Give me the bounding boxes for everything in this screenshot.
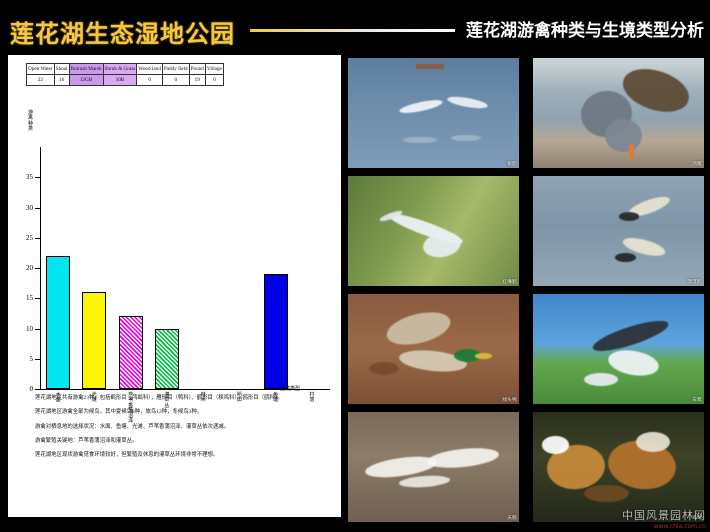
- note-paragraph: 莲花湖地区游禽全部为候鸟，其中夏候鸟8种，旅鸟12种，冬候鸟3种。: [24, 409, 334, 417]
- table-header-cell: Open Water: [27, 64, 55, 75]
- table-cell: 22: [27, 75, 55, 86]
- photo-caption: 绿头鸭: [502, 397, 517, 403]
- page-subtitle: 莲花湖游禽种类与生境类型分析: [466, 16, 704, 41]
- bird-shape: [475, 353, 492, 359]
- photo-scene: [348, 294, 519, 404]
- watermark-line2: www.chla.com.cn: [622, 523, 706, 530]
- bird-shape: [636, 432, 670, 452]
- photo-geese-shore[interactable]: 鸿雁: [533, 58, 704, 168]
- bird-shape: [629, 144, 634, 159]
- chart-bar: [82, 292, 106, 389]
- photo-gulls-flying-water[interactable]: 银鸥: [348, 58, 519, 168]
- table-header-cell: Shrub & Grass: [103, 64, 137, 75]
- page-title: 莲花湖生态湿地公园: [10, 14, 235, 49]
- chart-y-tick-label: 30: [10, 204, 33, 212]
- habitat-bar-chart: 游禽种类 05101520253035 水面光滩芦苇香蒲沼泽灌草丛林木稻田鱼塘村…: [8, 103, 341, 413]
- table-header-cell: Shoal: [54, 64, 69, 75]
- table-header-cell: Wood land: [137, 64, 163, 75]
- chart-bars-layer: [40, 147, 330, 389]
- photo-caption: 须浮鸥: [687, 279, 702, 285]
- photo-gull-green-background[interactable]: 红嘴鸥: [348, 176, 519, 286]
- note-paragraph: 游禽对栖息地的选择状况：水面、鱼塘、光滩、芦苇香蒲沼泽、灌草丛依次递减。: [24, 424, 334, 432]
- table-cell: 0: [137, 75, 163, 86]
- bird-photo-grid: 银鸥鸿雁红嘴鸥须浮鸥绿头鸭白鹭天鹅鸳鸯: [348, 58, 704, 525]
- table-header-cell: Village: [205, 64, 223, 75]
- bird-shape: [619, 212, 640, 221]
- chart-bar: [119, 316, 143, 389]
- photo-scene: [533, 58, 704, 168]
- chart-y-tick-label: 20: [10, 264, 33, 272]
- poster-header: 莲花湖生态湿地公园 莲花湖游禽种类与生境类型分析: [0, 0, 710, 48]
- table-cell: 19: [189, 75, 205, 86]
- photo-gull-blue-sky[interactable]: 白鹭: [533, 294, 704, 404]
- photo-scene: [533, 412, 704, 522]
- chart-y-tick-label: 35: [10, 173, 33, 181]
- chart-y-tick: [35, 389, 41, 390]
- chart-y-tick-label: 0: [10, 385, 33, 393]
- chart-y-axis-label: 游禽种类: [26, 111, 35, 132]
- title-divider: [250, 29, 455, 32]
- table-cell: 0: [162, 75, 189, 86]
- photo-scene: [348, 58, 519, 168]
- photo-scene: [533, 176, 704, 286]
- table-cell: 16: [54, 75, 69, 86]
- photo-caption: 鸿雁: [692, 161, 702, 167]
- bird-shape: [403, 137, 437, 143]
- note-paragraph: 莲花湖地区现状游禽觅食环境较好，但繁殖及休息的灌草丛环境非常不理想。: [24, 452, 334, 460]
- bird-shape: [369, 362, 400, 375]
- chart-bar: [46, 256, 70, 389]
- bird-shape: [615, 253, 636, 262]
- table-cell: 10B: [103, 75, 137, 86]
- analysis-panel: Open Water Shoal Bulrush Marsh Shrub & G…: [8, 55, 341, 517]
- habitat-data-table: Open Water Shoal Bulrush Marsh Shrub & G…: [26, 63, 224, 86]
- chart-bar: [155, 329, 179, 390]
- photo-ducks-mallard-flight[interactable]: 绿头鸭: [348, 294, 519, 404]
- bird-shape: [447, 94, 489, 110]
- table-header-cell: Pound: [189, 64, 205, 75]
- analysis-notes: 莲花湖地区共有游禽23种，包括鹈形目（鸬鹚科），雁形目（鸭科）、鹤形目（秧鸡科）…: [24, 395, 334, 467]
- table-header-row: Open Water Shoal Bulrush Marsh Shrub & G…: [27, 64, 224, 75]
- photo-terns-over-water[interactable]: 须浮鸥: [533, 176, 704, 286]
- bird-shape: [542, 436, 569, 454]
- table-header-cell: Bulrush Marsh: [69, 64, 103, 75]
- chart-y-tick-label: 15: [10, 294, 33, 302]
- chart-y-tick-label: 10: [10, 325, 33, 333]
- table-cell: 12GB: [69, 75, 103, 86]
- poster-canvas: 莲花湖生态湿地公园 莲花湖游禽种类与生境类型分析 Open Water Shoa…: [0, 0, 710, 532]
- note-paragraph: 莲花湖地区共有游禽23种，包括鹈形目（鸬鹚科），雁形目（鸭科）、鹤形目（秧鸡科）…: [24, 395, 334, 403]
- chart-x-axis-label: 生境类型: [280, 385, 300, 392]
- bird-shape: [416, 64, 443, 70]
- photo-scene: [533, 294, 704, 404]
- photo-mandarin-ducks[interactable]: 鸳鸯: [533, 412, 704, 522]
- bird-shape: [584, 485, 628, 503]
- bird-shape: [399, 97, 444, 115]
- bird-shape: [383, 306, 453, 349]
- bird-shape: [399, 474, 451, 489]
- photo-caption: 白鹭: [692, 397, 702, 403]
- note-paragraph: 游禽繁殖关键地：芦苇香蒲沼泽和灌草丛。: [24, 438, 334, 446]
- bird-shape: [451, 135, 482, 141]
- photo-caption: 红嘴鸥: [502, 279, 517, 285]
- photo-caption: 天鹅: [507, 515, 517, 521]
- chart-y-tick-label: 5: [10, 355, 33, 363]
- watermark-line1: 中国风景园林网: [622, 509, 706, 522]
- table-cell: 0: [205, 75, 223, 86]
- chart-y-tick-label: 25: [10, 234, 33, 242]
- photo-scene: [348, 176, 519, 286]
- chart-bar: [264, 274, 288, 389]
- bird-shape: [584, 373, 618, 386]
- table-header-cell: Paddy field: [162, 64, 189, 75]
- photo-swans-flying[interactable]: 天鹅: [348, 412, 519, 522]
- bird-shape: [426, 446, 499, 471]
- watermark: 中国风景园林网 www.chla.com.cn: [622, 507, 706, 530]
- photo-scene: [348, 412, 519, 522]
- bird-shape: [605, 119, 643, 152]
- table-row: 22 16 12GB 10B 0 0 19 0: [27, 75, 224, 86]
- photo-caption: 银鸥: [507, 161, 517, 167]
